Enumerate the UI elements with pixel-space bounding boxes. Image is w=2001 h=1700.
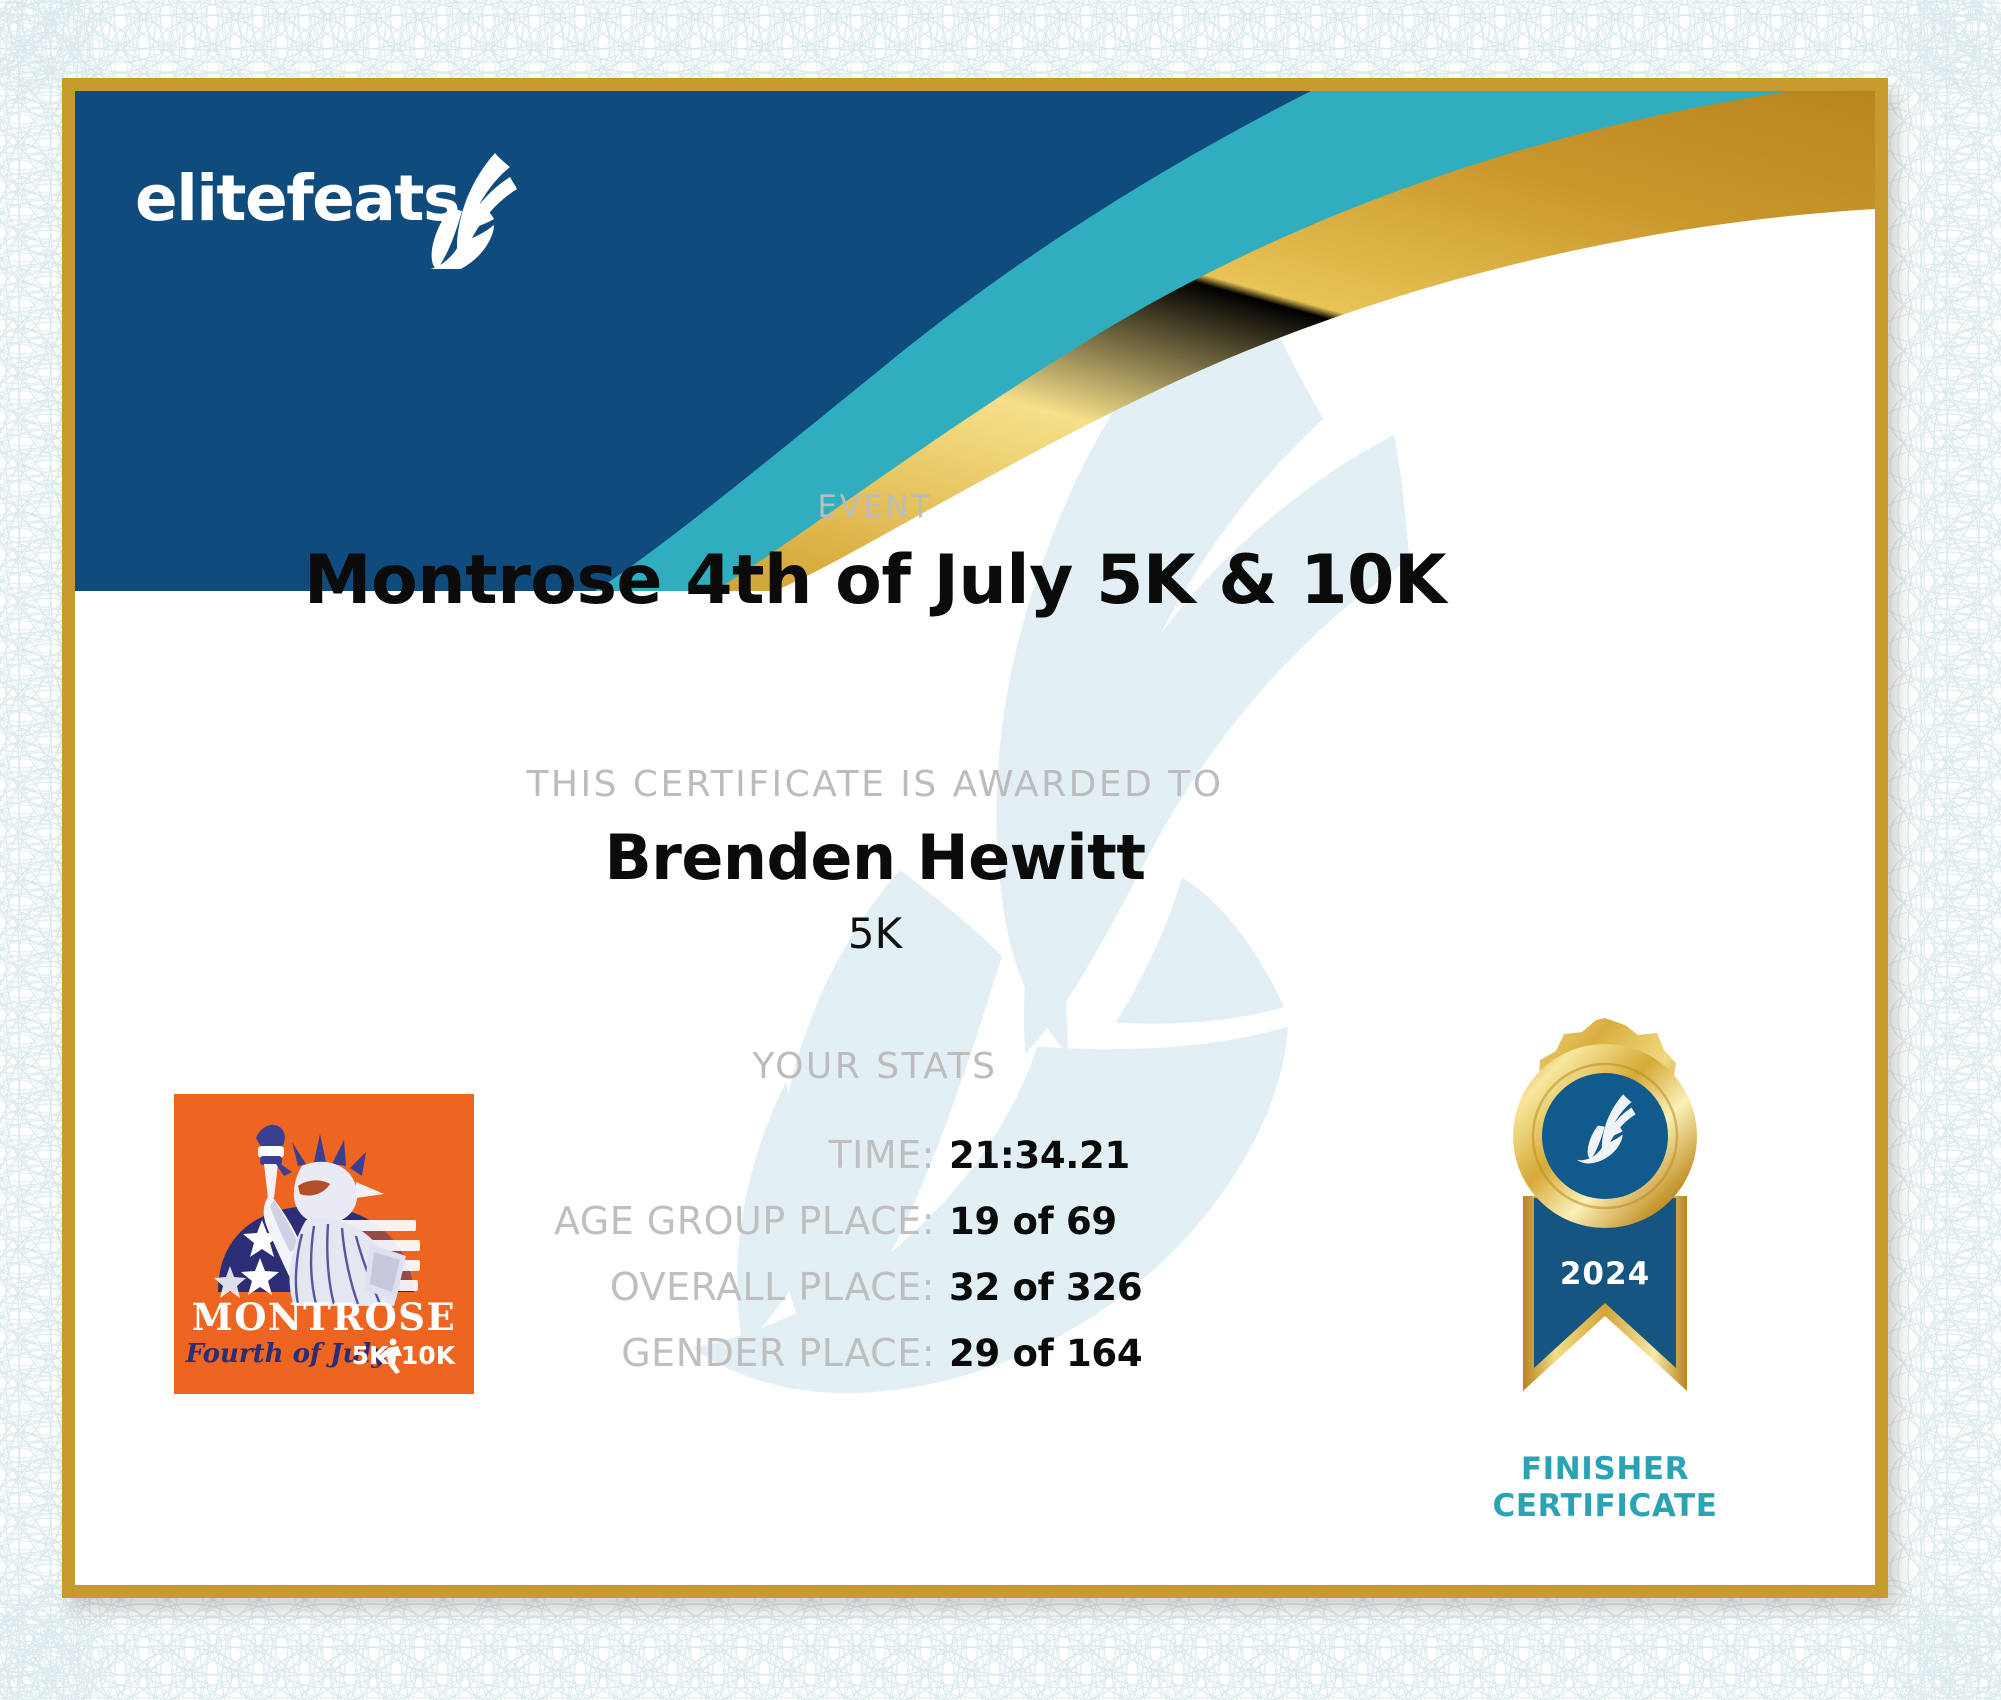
- your-stats-label: YOUR STATS: [275, 1046, 1475, 1087]
- winged-foot-icon: [409, 149, 519, 269]
- certificate-card: elitefeats EVENT Montrose 4th of July 5K…: [62, 78, 1888, 1598]
- stat-row-gender-place: GENDER PLACE: 29 of 164: [375, 1331, 1325, 1397]
- certificate-paper: elitefeats EVENT Montrose 4th of July 5K…: [0, 0, 2001, 1700]
- stat-value-age-group-place: 19 of 69: [949, 1200, 1117, 1243]
- awarded-to-label: THIS CERTIFICATE IS AWARDED TO: [275, 764, 1475, 805]
- certificate-inner: elitefeats EVENT Montrose 4th of July 5K…: [75, 91, 1875, 1585]
- finisher-medal-badge: 2024: [1460, 1016, 1750, 1426]
- badge-caption: FINISHER CERTIFICATE: [1435, 1451, 1775, 1524]
- stat-row-time: TIME: 21:34.21: [375, 1133, 1325, 1199]
- recipient-name: Brenden Hewitt: [275, 821, 1475, 894]
- badge-year: 2024: [1560, 1256, 1650, 1292]
- race-event-logo: MONTROSE Fourth of July 5K 10K: [174, 1094, 474, 1394]
- svg-text:10K: 10K: [401, 1341, 457, 1370]
- recipient-division: 5K: [275, 909, 1475, 958]
- event-label: EVENT: [335, 489, 1415, 525]
- stat-row-age-group-place: AGE GROUP PLACE: 19 of 69: [375, 1199, 1325, 1265]
- stat-value-gender-place: 29 of 164: [949, 1332, 1142, 1375]
- event-title: Montrose 4th of July 5K & 10K: [275, 541, 1475, 620]
- stat-value-time: 21:34.21: [949, 1134, 1130, 1177]
- brand-logo: elitefeats: [135, 153, 505, 273]
- badge-caption-line1: FINISHER: [1435, 1451, 1775, 1488]
- stat-value-overall-place: 32 of 326: [949, 1266, 1142, 1309]
- badge-caption-line2: CERTIFICATE: [1435, 1488, 1775, 1525]
- svg-text:MONTROSE: MONTROSE: [192, 1295, 456, 1339]
- statue-of-liberty-icon: MONTROSE Fourth of July 5K 10K: [174, 1094, 474, 1394]
- stats-list: TIME: 21:34.21 AGE GROUP PLACE: 19 of 69…: [375, 1133, 1325, 1397]
- stat-row-overall-place: OVERALL PLACE: 32 of 326: [375, 1265, 1325, 1331]
